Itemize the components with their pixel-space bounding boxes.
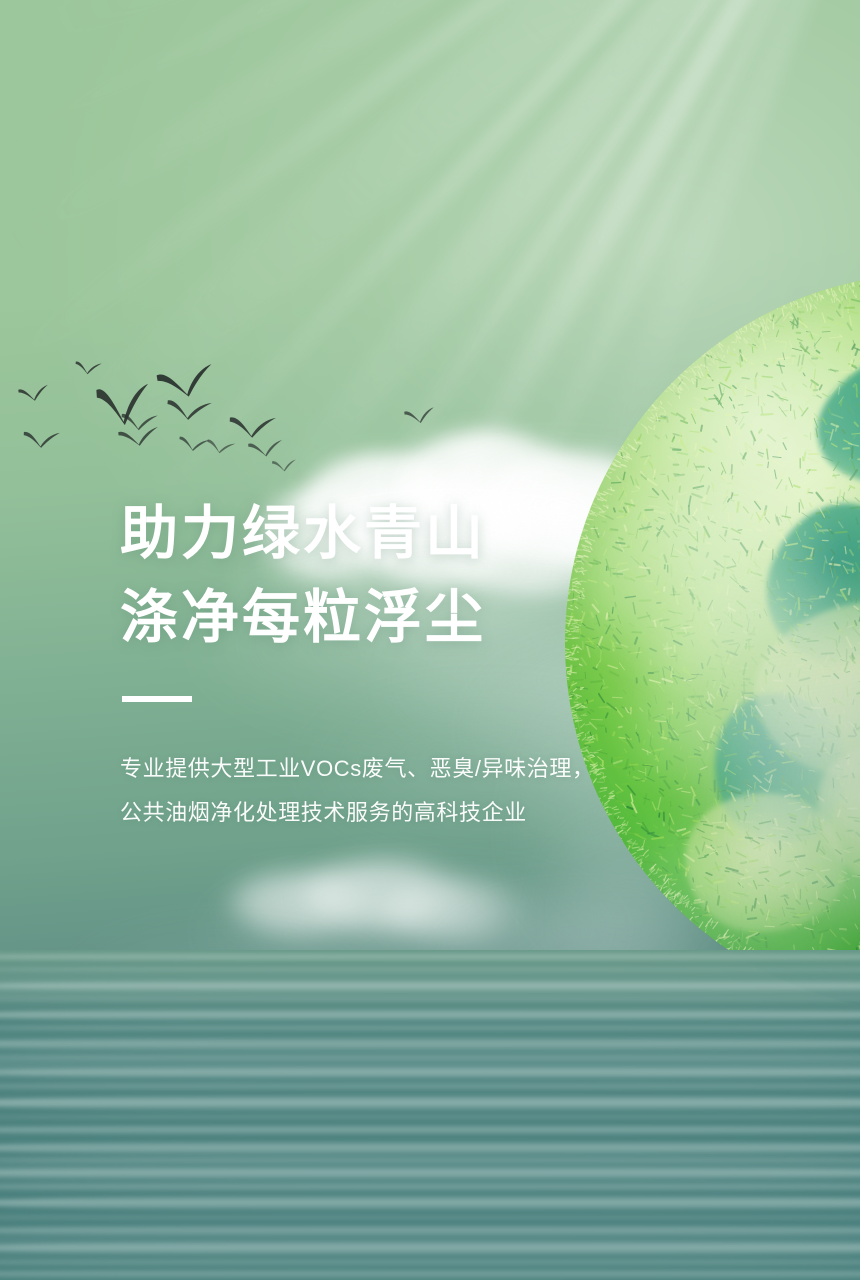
water-ripple-band — [0, 972, 860, 1006]
water-surface — [0, 950, 860, 1280]
water-ripple — [0, 1214, 860, 1221]
water-ripple — [0, 1124, 860, 1136]
subtitle-line-1: 专业提供大型工业VOCs废气、恶臭/异味治理， — [120, 750, 680, 788]
subtitle-line-2: 公共油烟净化处理技术服务的高科技企业 — [120, 794, 680, 832]
copy-block: 助力绿水青山 涤净每粒浮尘 专业提供大型工业VOCs废气、恶臭/异味治理， 公共… — [120, 492, 680, 832]
water-ripple — [0, 952, 860, 962]
water-ripple-band — [0, 1150, 860, 1194]
water-ripple — [0, 1024, 860, 1032]
eco-hero-poster: 助力绿水青山 涤净每粒浮尘 专业提供大型工业VOCs废气、恶臭/异味治理， 公共… — [0, 0, 860, 1280]
water-ripple-band — [0, 1046, 860, 1086]
water-ripple-band — [0, 1226, 860, 1264]
water-ripple — [0, 1268, 860, 1280]
water-ripple — [0, 1094, 860, 1112]
water-ripple — [0, 1008, 860, 1022]
headline-line-1: 助力绿水青山 — [120, 492, 680, 576]
headline-line-2: 涤净每粒浮尘 — [120, 576, 680, 660]
water-ripple — [0, 1114, 860, 1120]
divider-rule — [122, 696, 192, 702]
water-ripple — [0, 1194, 860, 1212]
